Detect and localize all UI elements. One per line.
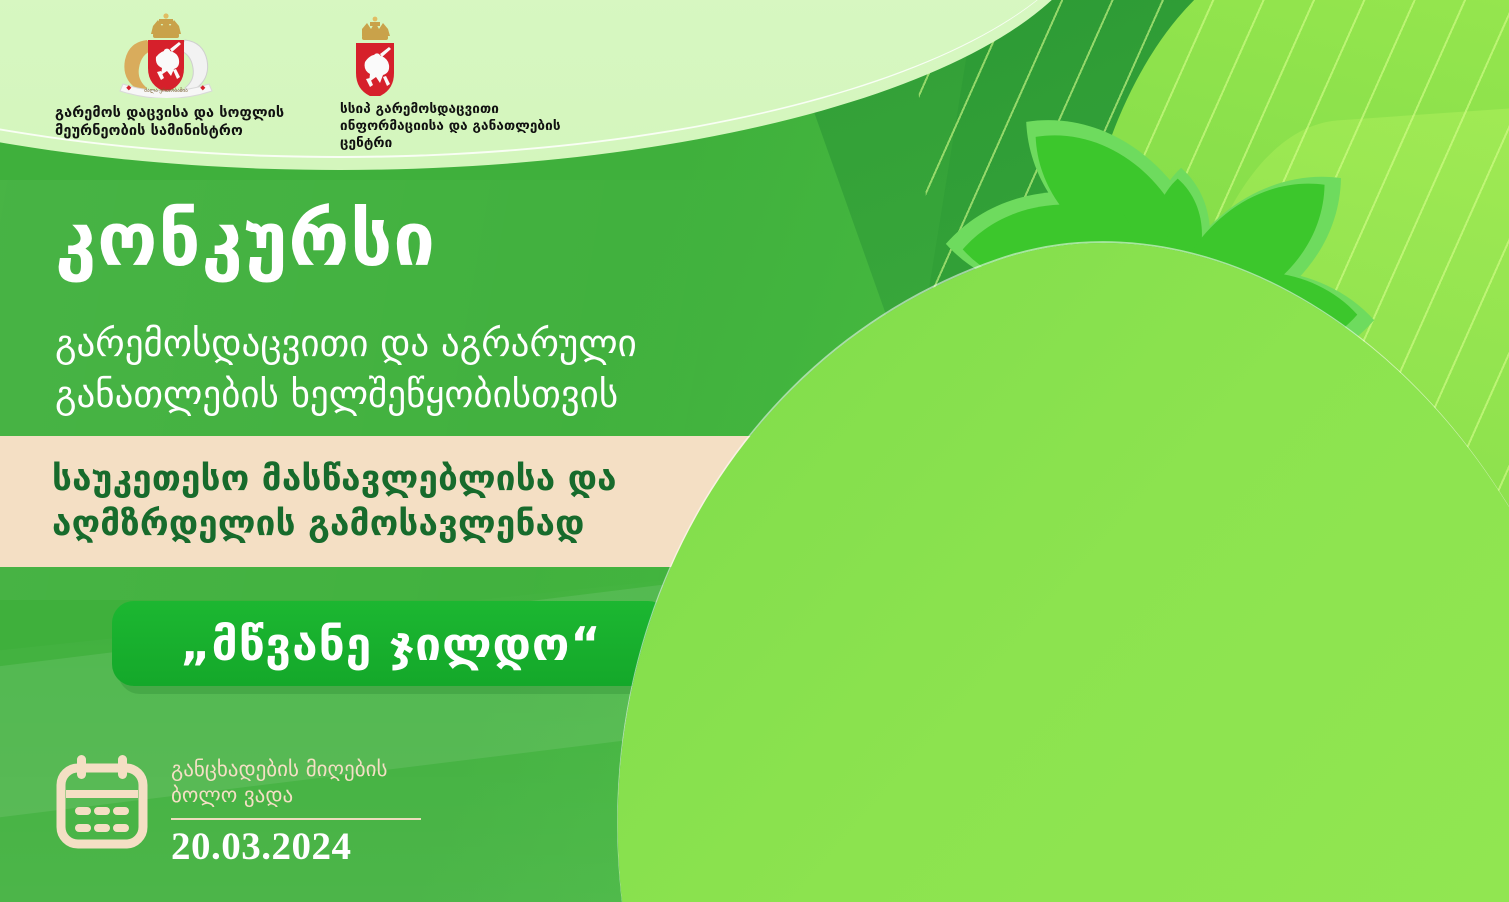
award-name-text: „მწვანე ჯილდო“ xyxy=(180,617,601,671)
highlight-band-text: საუკეთესო მასწავლებლისა და აღმზრდელის გა… xyxy=(0,457,617,547)
ministry-logo-block: ძალა ერთობაშია გარემოს დაცვისა და სოფლის… xyxy=(55,12,305,140)
highlight-band: საუკეთესო მასწავლებლისა და აღმზრდელის გა… xyxy=(0,436,787,567)
logo-group: ძალა ერთობაშია გარემოს დაცვისა და სოფლის… xyxy=(0,0,640,150)
calendar-icon xyxy=(55,752,149,850)
award-name-badge: „მწვანე ჯილდო“ xyxy=(112,601,670,686)
deadline-text-group: განცხადების მიღების ბოლო ვადა 20.03.2024 xyxy=(171,752,421,869)
deadline-block: განცხადების მიღების ბოლო ვადა 20.03.2024 xyxy=(55,752,421,869)
deadline-date: 20.03.2024 xyxy=(171,824,421,869)
poster-canvas: ძალა ერთობაშია გარემოს დაცვისა და სოფლის… xyxy=(0,0,1509,902)
deadline-label: განცხადების მიღების ბოლო ვადა xyxy=(171,756,421,809)
page-title: კონკურსი xyxy=(55,203,436,277)
deadline-divider xyxy=(171,818,421,820)
ministry-caption: გარემოს დაცვისა და სოფლის მეურნეობის სამ… xyxy=(55,104,305,140)
georgia-coat-of-arms-icon: ძალა ერთობაშია xyxy=(107,12,225,98)
center-caption: სსიპ გარემოსდაცვითი ინფორმაციისა და განა… xyxy=(340,101,570,152)
center-logo-block: სსიპ გარემოსდაცვითი ინფორმაციისა და განა… xyxy=(340,16,570,152)
page-subtitle: გარემოსდაცვითი და აგრარული განათლების ხე… xyxy=(55,318,637,420)
svg-text:ძალა ერთობაშია: ძალა ერთობაშია xyxy=(144,87,188,94)
georgia-shield-icon xyxy=(344,16,406,96)
